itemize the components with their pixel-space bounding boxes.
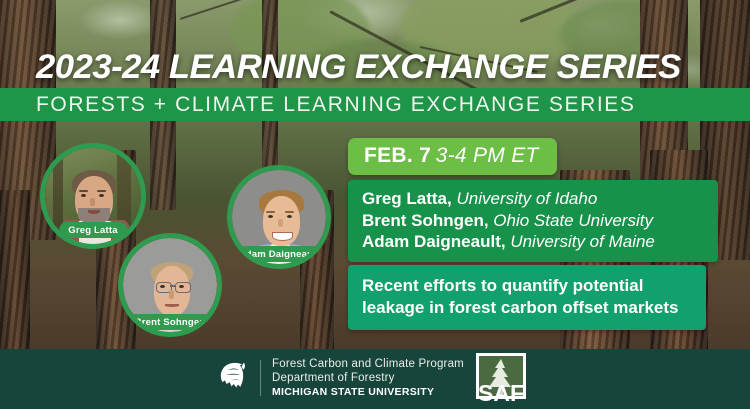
avatar: Brent Sohngen xyxy=(118,233,222,337)
saf-label: SAF xyxy=(478,380,524,405)
title-area: 2023-24 LEARNING EXCHANGE SERIES xyxy=(0,50,750,90)
avatar-label: Brent Sohngen xyxy=(126,314,215,330)
msu-logo-lockup: Forest Carbon and Climate Program Depart… xyxy=(213,357,464,399)
spartan-helmet-icon xyxy=(213,358,251,398)
list-item: Brent Sohngen, Ohio State University xyxy=(362,210,704,232)
event-datetime-badge: FEB. 7 3-4 PM ET xyxy=(348,138,557,175)
msu-text-block: Forest Carbon and Climate Program Depart… xyxy=(272,357,464,399)
talk-title: Recent efforts to quantify potential lea… xyxy=(362,275,692,319)
event-date: FEB. 7 xyxy=(364,144,431,167)
speaker-name: Greg Latta, xyxy=(362,189,452,208)
event-time: 3-4 PM ET xyxy=(436,144,539,167)
speaker-affiliation: University of Maine xyxy=(510,232,655,251)
speaker-affiliation: University of Idaho xyxy=(456,189,597,208)
speaker-name: Brent Sohngen, xyxy=(362,211,489,230)
speaker-affiliation: Ohio State University xyxy=(493,211,653,230)
avatar: Greg Latta xyxy=(40,143,146,249)
speaker-name: Adam Daigneault, xyxy=(362,232,506,251)
msu-department-line: Department of Forestry xyxy=(272,371,464,385)
talk-title-box: Recent efforts to quantify potential lea… xyxy=(348,265,706,330)
footer-bar: Forest Carbon and Climate Program Depart… xyxy=(0,349,750,409)
speaker-list: Greg Latta, University of Idaho Brent So… xyxy=(348,180,718,262)
divider xyxy=(260,360,261,396)
msu-university-line: MICHIGAN STATE UNIVERSITY xyxy=(272,385,464,399)
avatar-label: Adam Daigneault xyxy=(230,246,329,262)
webinar-poster: 2023-24 LEARNING EXCHANGE SERIES FORESTS… xyxy=(0,0,750,409)
avatar-label: Greg Latta xyxy=(59,222,127,238)
avatar: Adam Daigneault xyxy=(227,165,331,269)
page-subtitle: FORESTS + CLIMATE LEARNING EXCHANGE SERI… xyxy=(36,93,636,117)
list-item: Adam Daigneault, University of Maine xyxy=(362,231,704,253)
list-item: Greg Latta, University of Idaho xyxy=(362,188,704,210)
saf-logo: SAF xyxy=(472,353,534,405)
page-title: 2023-24 LEARNING EXCHANGE SERIES xyxy=(36,48,681,87)
msu-program-line: Forest Carbon and Climate Program xyxy=(272,357,464,371)
tree-trunk xyxy=(0,190,30,360)
